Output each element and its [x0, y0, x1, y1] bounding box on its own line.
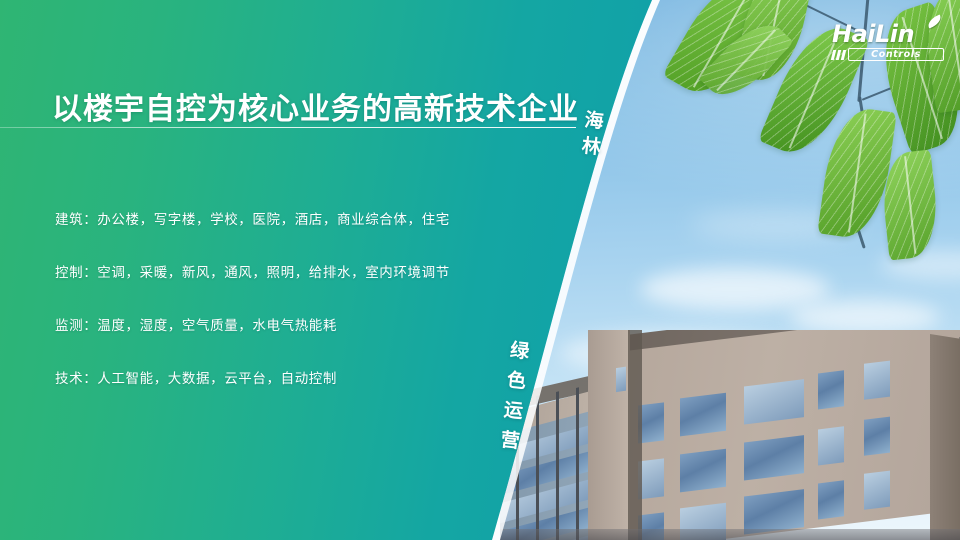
page-title: 以楼宇自控为核心业务的高新技术企业	[52, 84, 579, 128]
building-tower-column	[588, 330, 630, 540]
logo-subtitle-text: Controls	[848, 48, 944, 61]
logo-bars-icon	[832, 50, 845, 60]
title-divider	[0, 127, 576, 128]
building-main-facade: 海林自控	[618, 330, 960, 540]
building-side-wall	[930, 334, 960, 540]
logo-subtitle-row: Controls	[832, 48, 944, 61]
building-shadow-strip	[628, 330, 642, 540]
list-item: 控制：空调，采暖，新风，通风，照明，给排水，室内环境调节	[55, 261, 525, 281]
cloud-shape	[790, 300, 940, 334]
hailin-logo: HaiLin Controls	[832, 22, 944, 62]
cloud-shape	[640, 268, 830, 310]
office-building-photo: 海林自控	[500, 330, 960, 540]
vertical-brand-label: 海林	[575, 109, 607, 164]
list-item: 建筑：办公楼，写字楼，学校，医院，酒店，商业综合体，住宅	[55, 208, 525, 228]
ground-line	[500, 529, 960, 540]
logo-name-text: HaiLin	[832, 20, 914, 48]
bullet-list: 建筑：办公楼，写字楼，学校，医院，酒店，商业综合体，住宅 控制：空调，采暖，新风…	[55, 208, 525, 420]
presentation-slide: 海林自控 以楼宇自控为核心业务的高新技术企业 建筑：办公楼，写字楼，学校，医院，…	[0, 0, 960, 540]
logo-wordmark: HaiLin	[832, 22, 944, 46]
list-item: 监测：温度，湿度，空气质量，水电气热能耗	[55, 314, 525, 334]
list-item: 技术：人工智能，大数据，云平台，自动控制	[55, 367, 525, 387]
